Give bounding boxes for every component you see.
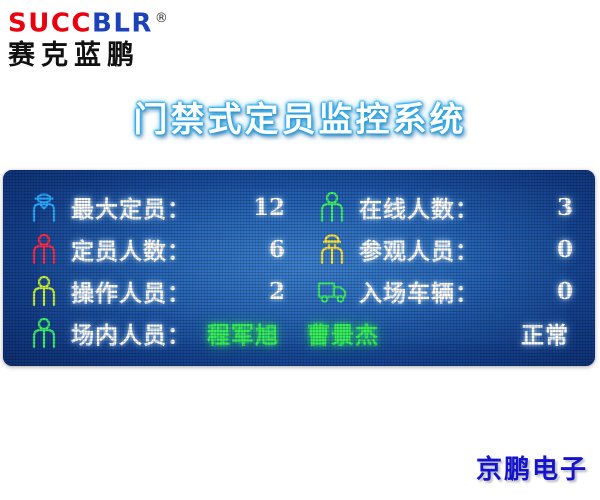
led-rows-container: 最大定员： 12 在线人数： 3 — [3, 170, 595, 366]
person-icon — [317, 191, 347, 223]
stat-label: 场内人员： — [71, 316, 191, 350]
logo-chinese-wordmark: 赛克蓝鹏 — [8, 40, 208, 72]
stat-online-count: 在线人数： 3 — [305, 190, 593, 224]
stat-label: 最大定员： — [71, 190, 191, 224]
led-display-panel: 最大定员： 12 在线人数： 3 — [3, 170, 595, 366]
logo-latin-wordmark: SUCCBLR® — [8, 4, 208, 39]
status-badge: 正常 — [521, 316, 569, 350]
onsite-person-name: 程军旭 — [207, 316, 279, 350]
table-row: 场内人员： 程军旭 曹景杰 正常 — [17, 314, 581, 352]
person-icon — [29, 317, 59, 349]
stat-label: 入场车辆： — [359, 274, 479, 308]
stat-label: 参观人员： — [359, 232, 479, 266]
company-logo: SUCCBLR® 赛克蓝鹏 — [8, 4, 208, 74]
onsite-person-name: 曹景杰 — [307, 316, 379, 350]
stat-label: 定员人数： — [71, 232, 191, 266]
table-row: 最大定员： 12 在线人数： 3 — [17, 188, 581, 226]
stat-assigned-count: 定员人数： 6 — [17, 232, 305, 266]
stat-value: 6 — [269, 236, 285, 263]
registered-trademark-icon: ® — [155, 11, 168, 26]
stat-max-capacity: 最大定员： 12 — [17, 190, 305, 224]
footer-brand: 京鹏电子 — [476, 449, 588, 486]
stat-value: 0 — [557, 236, 573, 263]
logo-blr-text: BLR — [92, 9, 153, 39]
stat-value: 3 — [557, 194, 573, 221]
stat-onsite-personnel: 场内人员： 程军旭 曹景杰 正常 — [17, 316, 593, 350]
page-title: 门禁式定员监控系统 — [0, 92, 600, 141]
logo-succ-text: SUCC — [8, 9, 92, 39]
person-with-helmet-icon — [317, 233, 347, 265]
truck-icon — [317, 275, 347, 307]
table-row: 定员人数： 6 参观人员： 0 — [17, 230, 581, 268]
stat-value: 0 — [557, 278, 573, 305]
stat-value: 2 — [269, 278, 285, 305]
person-with-cap-icon — [29, 191, 59, 223]
person-icon — [29, 275, 59, 307]
stat-operator-count: 操作人员： 2 — [17, 274, 305, 308]
stat-label: 操作人员： — [71, 274, 191, 308]
stat-label: 在线人数： — [359, 190, 479, 224]
stat-visitor-count: 参观人员： 0 — [305, 232, 593, 266]
table-row: 操作人员： 2 入场车辆： 0 — [17, 272, 581, 310]
stat-value: 12 — [253, 194, 285, 221]
person-icon — [29, 233, 59, 265]
stat-vehicle-count: 入场车辆： 0 — [305, 274, 593, 308]
